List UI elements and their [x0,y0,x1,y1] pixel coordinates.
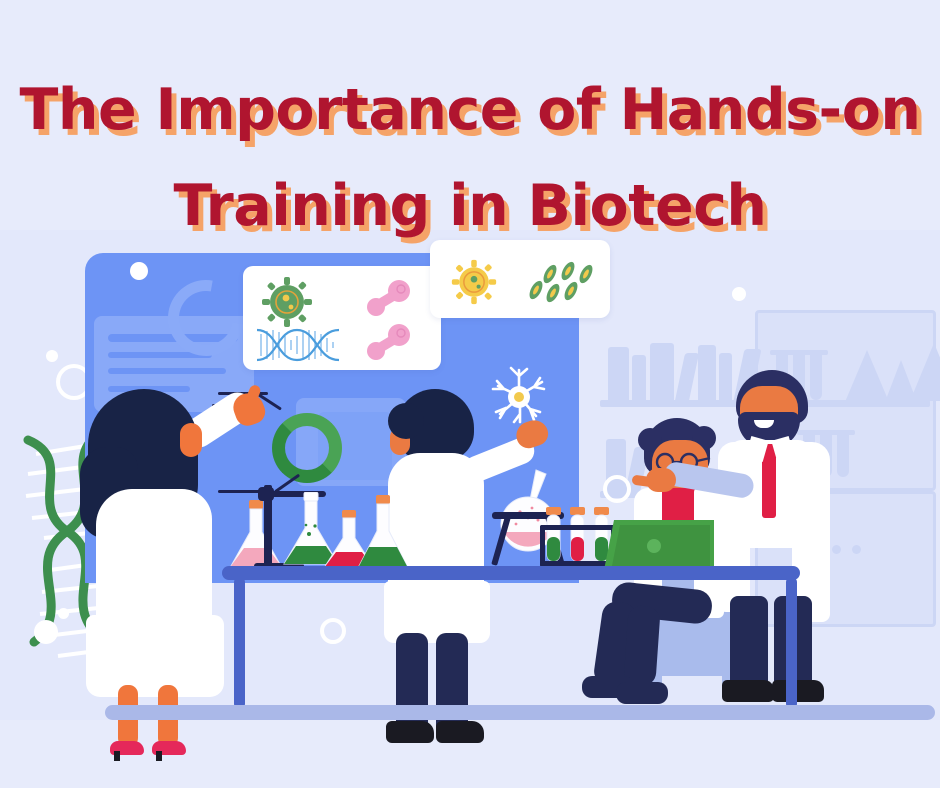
bench-leg [786,578,797,708]
book [632,355,646,401]
lab-coat-skirt [86,615,224,697]
text-line [108,368,226,374]
trouser-leg [623,605,661,687]
book [608,347,629,401]
bench-leg [234,578,245,708]
bacteria-spores-icon [526,260,598,304]
lab-coat-left [718,442,750,612]
book [675,353,699,401]
lab-bench [222,566,800,580]
heel-spike [114,751,120,761]
lab-coat-right [792,442,830,622]
shoe [436,721,484,743]
shoe [772,680,824,702]
heel-spike [156,751,162,761]
trouser-leg [730,596,768,692]
floor-bar [105,705,935,720]
shoe [386,721,434,743]
poster-canvas: The Importance of Hands-on Training in B… [0,0,940,788]
decorative-dot [34,620,58,644]
stand-knob [258,487,274,501]
flask-silhouette [910,343,940,401]
dna-helix-icon [255,326,341,364]
shoe [722,680,774,702]
page-title: The Importance of Hands-on Training in B… [0,62,940,254]
tube-rack-bar [770,350,828,355]
virus-green-icon [261,276,313,328]
shoe [616,682,668,704]
decorative-dot [58,608,69,619]
chromosome-pink-icon [365,324,411,362]
book [650,343,674,401]
erlenmeyer-flask-green [352,495,414,573]
title-line-2: Training in Biotech [0,158,940,254]
decorative-circle [320,618,346,644]
specimen-card-left[interactable] [243,266,441,370]
board-dot [130,262,148,280]
title-line-1: The Importance of Hands-on [0,62,940,158]
decorative-dot [732,287,746,301]
decorative-dot [46,350,58,362]
ear [180,423,202,457]
book [698,345,716,401]
chromosome-pink-icon [365,280,411,318]
necktie [762,450,776,518]
hair-fringe [388,403,424,439]
virus-yellow-icon [450,258,498,306]
